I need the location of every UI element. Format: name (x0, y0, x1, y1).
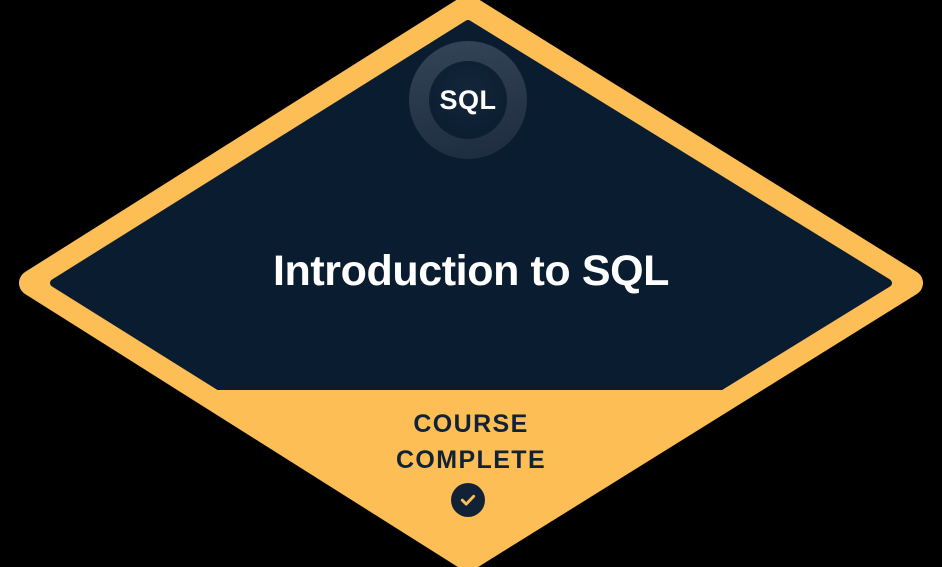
course-status: COURSE COMPLETE (0, 406, 942, 478)
status-line-course: COURSE (0, 406, 942, 442)
course-title: Introduction to SQL (0, 243, 942, 299)
course-badge-canvas: SQL Introduction to SQL COURSE COMPLETE (0, 0, 942, 567)
completion-check-badge (451, 483, 485, 517)
check-mark-icon (458, 490, 478, 510)
status-line-complete: COMPLETE (0, 442, 942, 478)
